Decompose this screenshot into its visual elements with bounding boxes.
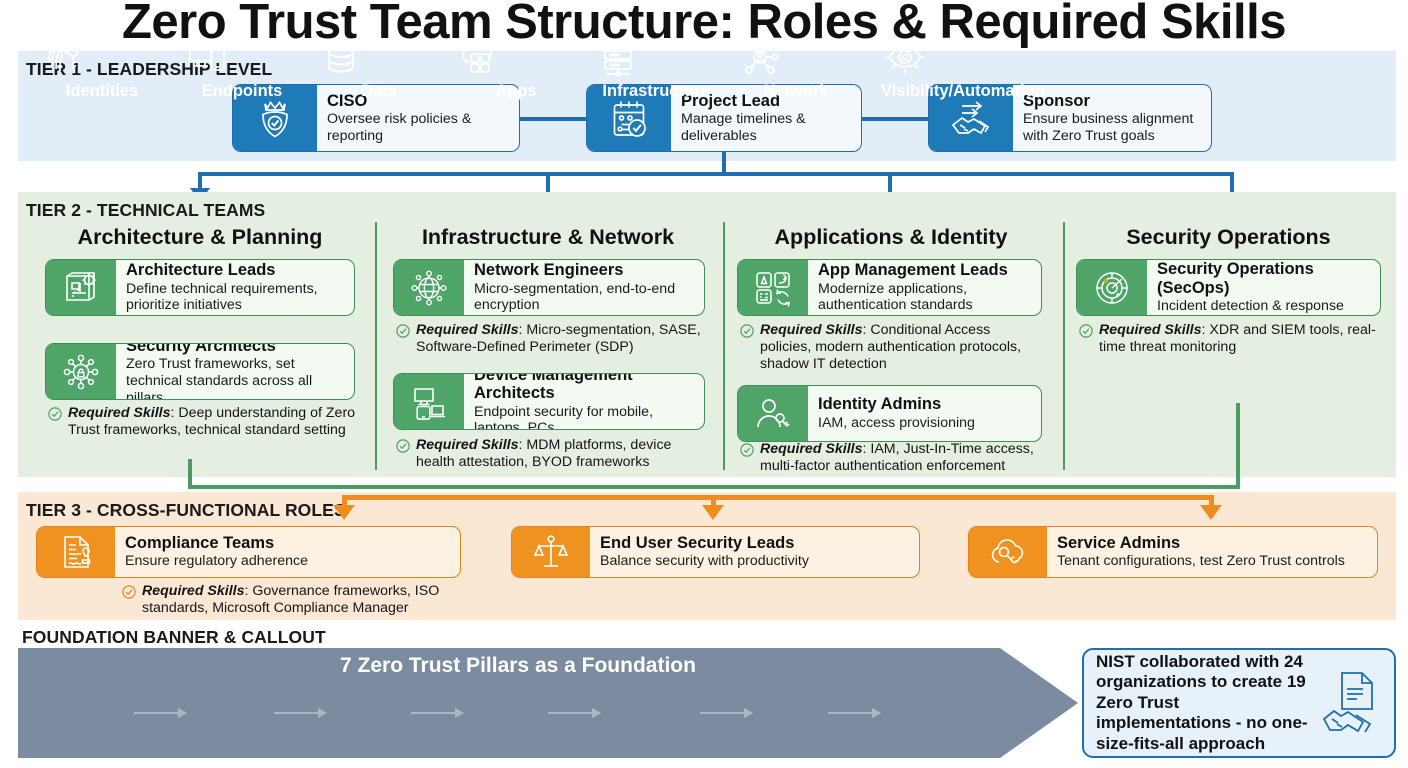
server-rack-icon [596, 36, 716, 80]
tier1-link-ciso-lead [520, 117, 590, 121]
role-card-security-architects[interactable]: Security Architects Zero Trust framework… [45, 343, 355, 400]
pillar-label: Data [319, 82, 439, 101]
app-sync-icon [738, 260, 808, 315]
pillar-visibility: Visibility/Automation [881, 36, 1041, 101]
required-skills-text: Required Skills: XDR and SIEM tools, rea… [1099, 322, 1384, 356]
role-title: Device Management Architects [474, 373, 696, 403]
tier3-label: TIER 3 - CROSS-FUNCTIONAL ROLES [26, 500, 346, 521]
required-skills-device: Required Skills: MDM platforms, device h… [396, 437, 708, 471]
role-card-architecture-leads[interactable]: Architecture Leads Define technical requ… [45, 259, 355, 316]
role-title: Service Admins [1057, 534, 1369, 552]
arrow-down-tier3-2 [702, 505, 724, 520]
pillar-arrow-3 [411, 712, 463, 714]
pillar-label: Endpoints [182, 82, 302, 101]
tier2-label: TIER 2 - TECHNICAL TEAMS [26, 200, 265, 221]
role-card-service-admins[interactable]: Service Admins Tenant configurations, te… [968, 526, 1378, 578]
required-skills-text: Required Skills: MDM platforms, device h… [416, 437, 708, 471]
role-desc: Ensure business alignment with Zero Trus… [1023, 111, 1203, 144]
eye-gear-icon [881, 36, 1041, 80]
check-circle-icon [740, 324, 754, 373]
role-desc: Oversee risk policies & reporting [327, 111, 511, 144]
devices-icon [394, 374, 464, 429]
role-title: Compliance Teams [125, 534, 452, 552]
role-card-compliance-teams[interactable]: Compliance Teams Ensure regulatory adher… [36, 526, 461, 578]
role-desc: Manage timelines & deliverables [681, 111, 853, 144]
document-stamp-icon [37, 527, 115, 577]
user-key-icon [738, 386, 808, 441]
role-desc: Balance security with productivity [600, 553, 911, 570]
role-desc: Define technical requirements, prioritiz… [126, 281, 346, 314]
column-heading-secops: Security Operations [1066, 225, 1391, 250]
required-skills-architecture: Required Skills: Deep understanding of Z… [48, 405, 360, 439]
pillar-network: Network [736, 36, 856, 101]
role-title: App Management Leads [818, 261, 1033, 279]
required-skills-compliance: Required Skills: Governance frameworks, … [122, 583, 452, 617]
pillar-infrastructure: Infrastructure [596, 36, 716, 101]
monitor-phone-icon [182, 36, 302, 80]
connector-bus-blue [198, 172, 1234, 176]
role-card-end-user-security[interactable]: End User Security Leads Balance security… [511, 526, 920, 578]
check-circle-icon [122, 585, 136, 617]
role-title: Network Engineers [474, 261, 696, 279]
pillar-arrow-5 [700, 712, 752, 714]
pillar-arrow-1 [134, 712, 186, 714]
fingerprint-key-icon [42, 36, 162, 80]
scales-balance-icon [512, 527, 590, 577]
pillar-apps: Apps [456, 36, 576, 101]
foundation-label: FOUNDATION BANNER & CALLOUT [22, 627, 326, 648]
check-circle-icon [396, 324, 410, 356]
role-title: Identity Admins [818, 395, 1033, 413]
globe-network-icon [394, 260, 464, 315]
tier1-link-lead-sponsor [862, 117, 928, 121]
callout-text: NIST collaborated with 24 organizations … [1096, 652, 1318, 754]
role-card-app-management[interactable]: App Management Leads Modernize applicati… [737, 259, 1042, 316]
role-desc: IAM, access provisioning [818, 415, 1033, 432]
role-title: Sponsor [1023, 92, 1203, 110]
pillar-identities: Identities [42, 36, 162, 101]
required-skills-apps: Required Skills: Conditional Access poli… [740, 322, 1045, 373]
role-desc: Incident detection & response [1157, 298, 1372, 315]
cloud-wrench-icon [969, 527, 1047, 577]
radar-icon [1077, 260, 1147, 315]
required-skills-identity: Required Skills: IAM, Just-In-Time acces… [740, 441, 1045, 475]
network-nodes-icon [736, 36, 856, 80]
pillar-arrow-2 [274, 712, 326, 714]
required-skills-secops: Required Skills: XDR and SIEM tools, rea… [1079, 322, 1384, 356]
required-skills-network: Required Skills: Micro-segmentation, SAS… [396, 322, 708, 356]
lock-network-icon [46, 344, 116, 399]
green-bracket-bottom [188, 485, 1240, 489]
arrow-down-tier3-3 [1200, 505, 1222, 520]
database-icon [319, 36, 439, 80]
column-divider-3 [1063, 222, 1065, 470]
role-desc: Endpoint security for mobile, laptops, P… [474, 404, 696, 430]
check-circle-icon [396, 439, 410, 471]
orange-bus [342, 495, 1214, 500]
role-title: Security Architects [126, 343, 346, 355]
nist-callout: NIST collaborated with 24 organizations … [1082, 648, 1396, 758]
column-heading-architecture: Architecture & Planning [30, 225, 370, 250]
pillar-endpoints: Endpoints [182, 36, 302, 101]
cloud-apps-icon [456, 36, 576, 80]
role-card-secops[interactable]: Security Operations (SecOps) Incident de… [1076, 259, 1381, 316]
required-skills-text: Required Skills: Micro-segmentation, SAS… [416, 322, 708, 356]
pillar-data: Data [319, 36, 439, 101]
role-title: Security Operations (SecOps) [1157, 260, 1372, 297]
required-skills-text: Required Skills: Conditional Access poli… [760, 322, 1045, 373]
column-divider-2 [723, 222, 725, 470]
role-desc: Zero Trust frameworks, set technical sta… [126, 356, 346, 400]
pillar-label: Visibility/Automation [881, 82, 1041, 101]
blueprint-gear-icon [46, 260, 116, 315]
role-desc: Micro-segmentation, end-to-end encryptio… [474, 281, 696, 314]
pillar-label: Apps [456, 82, 576, 101]
document-handshake-icon [1318, 667, 1386, 739]
required-skills-text: Required Skills: Deep understanding of Z… [68, 405, 360, 439]
role-title: Architecture Leads [126, 261, 346, 279]
pillar-label: Infrastructure [596, 82, 716, 101]
role-desc: Tenant configurations, test Zero Trust c… [1057, 553, 1369, 570]
banner-title: 7 Zero Trust Pillars as a Foundation [18, 654, 1018, 678]
arrow-down-tier3-1 [333, 505, 355, 520]
column-divider-1 [375, 222, 377, 470]
role-desc: Modernize applications, authentication s… [818, 281, 1033, 314]
role-card-device-management[interactable]: Device Management Architects Endpoint se… [393, 373, 705, 430]
green-bracket-right [1236, 403, 1240, 489]
role-card-network-engineers[interactable]: Network Engineers Micro-segmentation, en… [393, 259, 705, 316]
role-desc: Ensure regulatory adherence [125, 553, 452, 570]
check-circle-icon [1079, 324, 1093, 356]
pillar-arrow-6 [828, 712, 880, 714]
role-card-identity-admins[interactable]: Identity Admins IAM, access provisioning [737, 385, 1042, 442]
required-skills-text: Required Skills: IAM, Just-In-Time acces… [760, 441, 1045, 475]
check-circle-icon [48, 407, 62, 439]
pillar-label: Identities [42, 82, 162, 101]
required-skills-text: Required Skills: Governance frameworks, … [142, 583, 452, 617]
column-heading-applications: Applications & Identity [726, 225, 1056, 250]
pillar-label: Network [736, 82, 856, 101]
check-circle-icon [740, 443, 754, 475]
pillar-arrow-4 [548, 712, 600, 714]
role-title: End User Security Leads [600, 534, 911, 552]
column-heading-infrastructure: Infrastructure & Network [378, 225, 718, 250]
